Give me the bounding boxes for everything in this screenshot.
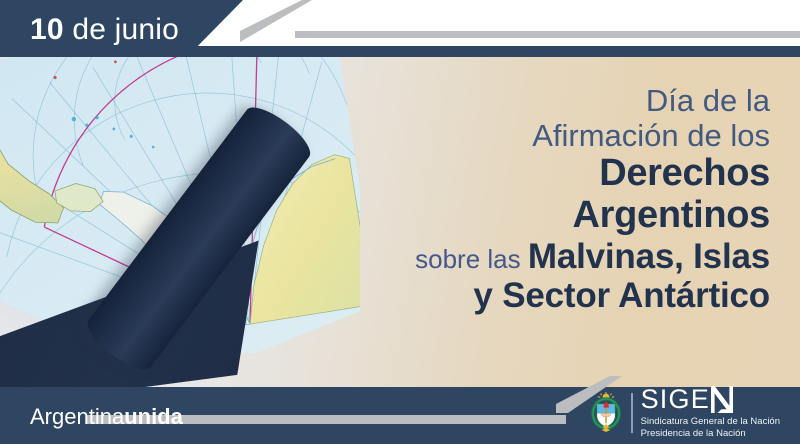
title-line-4: Argentinos bbox=[310, 195, 770, 237]
poster-title: Día de la Afirmación de los Derechos Arg… bbox=[310, 84, 770, 316]
sigen-subtitle-1: Sindicatura General de la Nación bbox=[641, 416, 780, 428]
sigen-subtitle-2: Presidencia de la Nación bbox=[641, 428, 780, 440]
header-date-number: 10 bbox=[30, 13, 64, 46]
footer-brand-argentina-unida: Argentinaunida bbox=[30, 404, 183, 430]
sigen-logo: SIGE Sindicatura General de la Nación Pr… bbox=[589, 390, 780, 436]
argentine-coat-of-arms-icon bbox=[589, 392, 623, 434]
footer-brand-light: Argentina bbox=[30, 404, 124, 429]
map-artwork bbox=[0, 57, 360, 387]
title-line-5: sobre las Malvinas, Islas bbox=[310, 237, 770, 276]
header-date-month: de junio bbox=[64, 13, 179, 46]
header-gray-stripe-horizontal bbox=[295, 31, 800, 38]
footer-brand-bold: unida bbox=[124, 404, 183, 429]
sigen-logo-text: SIGE Sindicatura General de la Nación Pr… bbox=[641, 386, 780, 440]
sigen-logo-divider bbox=[631, 393, 633, 433]
title-line-1: Día de la bbox=[310, 84, 770, 119]
title-line-6: y Sector Antártico bbox=[310, 276, 770, 316]
sigen-stylized-n-icon bbox=[711, 386, 733, 413]
sigen-wordmark: SIGE bbox=[641, 386, 780, 413]
title-line-3: Derechos bbox=[310, 153, 770, 195]
sigen-wordmark-sige: SIGE bbox=[641, 386, 710, 413]
title-line-5-prefix: sobre las bbox=[415, 244, 528, 274]
poster-canvas: 10 de junio bbox=[0, 0, 800, 444]
header-date-label: 10 de junio bbox=[30, 13, 179, 47]
title-line-5-emphasis: Malvinas, Islas bbox=[528, 237, 770, 276]
title-line-2: Afirmación de los bbox=[310, 119, 770, 154]
